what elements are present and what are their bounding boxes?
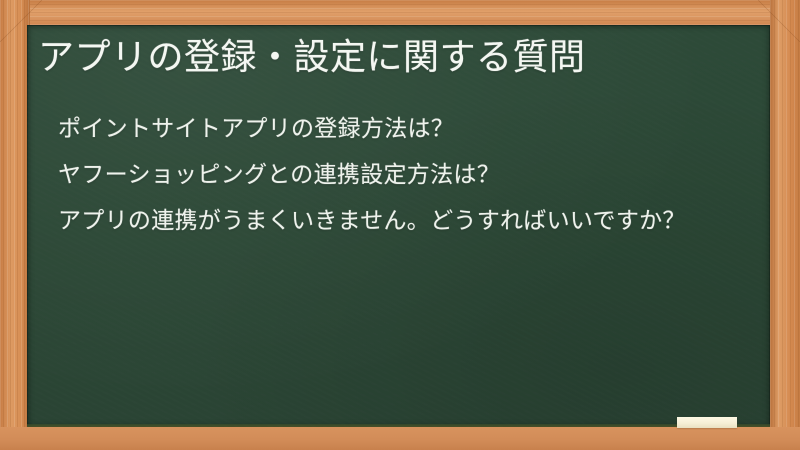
slide-title: アプリの登録・設定に関する質問 <box>38 34 748 80</box>
frame-rail-top <box>0 0 800 26</box>
chalkboard-slide: アプリの登録・設定に関する質問 ポイントサイトアプリの登録方法は？ ヤフーショッ… <box>0 0 800 450</box>
frame-rail-right <box>770 0 800 450</box>
question-item: ポイントサイトアプリの登録方法は？ <box>58 105 748 151</box>
chalkboard-surface: アプリの登録・設定に関する質問 ポイントサイトアプリの登録方法は？ ヤフーショッ… <box>27 25 770 427</box>
question-item: ヤフーショッピングとの連携設定方法は？ <box>58 151 748 197</box>
frame-rail-left <box>0 0 30 450</box>
question-list: ポイントサイトアプリの登録方法は？ ヤフーショッピングとの連携設定方法は？ アプ… <box>58 105 748 243</box>
question-item: アプリの連携がうまくいきません。どうすればいいですか？ <box>58 197 748 243</box>
chalkboard-bottom-edge <box>27 424 770 427</box>
chalk-stick <box>677 417 737 428</box>
frame-chalk-ledge <box>0 427 800 450</box>
